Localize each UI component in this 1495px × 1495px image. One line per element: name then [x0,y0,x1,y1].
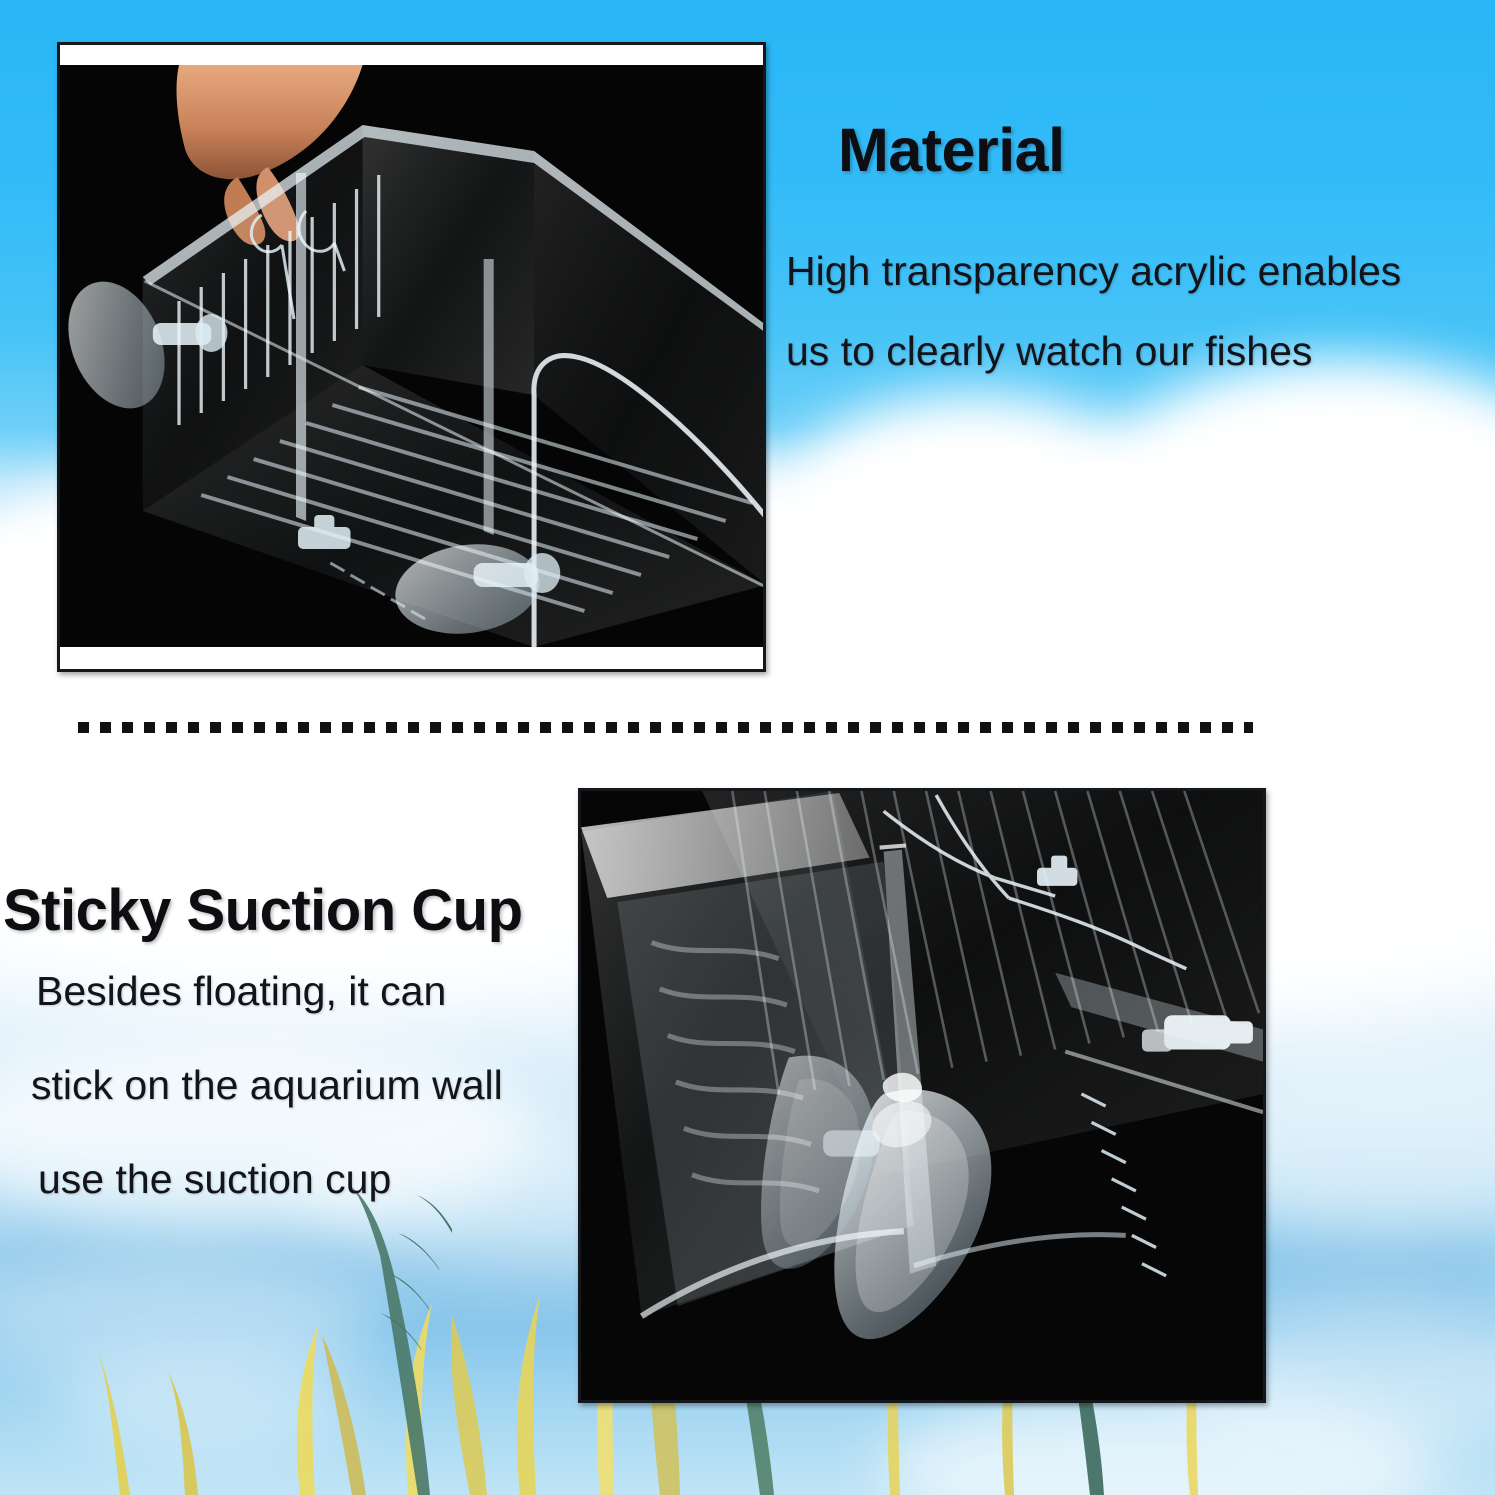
cloud-wisp [60,1350,360,1460]
section-heading-suction-cup: Sticky Suction Cup [3,877,523,944]
dashed-divider [78,722,1253,733]
photo-image-material [60,65,763,647]
suction-body-line-3: use the suction cup [38,1156,391,1203]
product-photo-material [57,42,766,672]
material-body-line-2: us to clearly watch our fishes [786,328,1312,375]
photo-image-suction-cup [581,791,1263,1400]
product-photo-suction-cup [578,788,1266,1403]
suction-body-line-1: Besides floating, it can [36,968,446,1015]
photo-matte-top [60,45,763,65]
section-heading-material: Material [838,115,1065,185]
photo-matte-bottom [60,647,763,669]
material-body-line-1: High transparency acrylic enables [786,248,1401,295]
infographic-canvas: Material High transparency acrylic enabl… [0,0,1495,1495]
suction-body-line-2: stick on the aquarium wall [31,1062,503,1109]
